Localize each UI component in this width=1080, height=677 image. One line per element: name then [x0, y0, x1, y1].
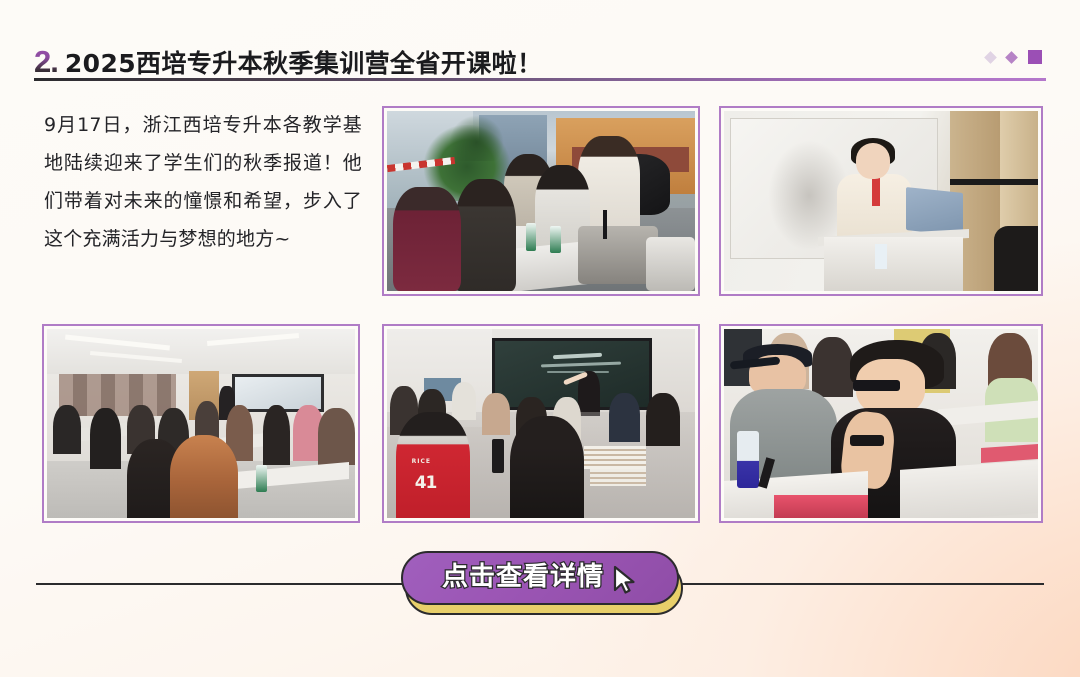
header-title-row: 2. 2025西培专升本秋季集训营全省开课啦！ [34, 38, 1046, 76]
gallery-photo-1[interactable] [382, 106, 700, 296]
header-decoration-group [986, 50, 1042, 64]
photo-1-image [387, 111, 695, 291]
photo-4-scene: RICE 41 [387, 329, 695, 518]
photo-3-image [47, 329, 355, 518]
section-header: 2. 2025西培专升本秋季集训营全省开课啦！ [34, 38, 1046, 84]
photo-3-scene [47, 329, 355, 518]
photo-4-image: RICE 41 [387, 329, 695, 518]
poster-page: 2. 2025西培专升本秋季集训营全省开课啦！ 9月17日，浙江西培专升本各教学… [0, 0, 1080, 677]
photo-5-image [724, 329, 1038, 518]
jersey-name-text: RICE [412, 458, 431, 465]
cta-container: 点击查看详情 [401, 551, 683, 617]
cta-label: 点击查看详情 [442, 564, 604, 590]
photo-2-scene [724, 111, 1038, 291]
diamond-purple-icon [1005, 51, 1018, 64]
view-details-button[interactable]: 点击查看详情 [401, 551, 679, 605]
gallery-photo-3[interactable] [42, 324, 360, 523]
cursor-arrow-icon [612, 565, 638, 595]
page-title: 2025西培专升本秋季集训营全省开课啦！ [65, 51, 543, 76]
square-purple-icon [1028, 50, 1042, 64]
gallery-photo-4[interactable]: RICE 41 [382, 324, 700, 523]
photo-2-image [724, 111, 1038, 291]
header-divider [34, 78, 1046, 81]
gallery-photo-5[interactable] [719, 324, 1043, 523]
photo-5-scene [724, 329, 1038, 518]
jersey-number-text: 41 [415, 473, 437, 493]
photo-1-scene [387, 111, 695, 291]
section-number: 2. [34, 46, 65, 77]
diamond-light-icon [984, 51, 997, 64]
gallery-photo-2[interactable] [719, 106, 1043, 296]
article-body: 9月17日，浙江西培专升本各教学基地陆续迎来了学生们的秋季报道！他们带着对未来的… [44, 106, 362, 258]
